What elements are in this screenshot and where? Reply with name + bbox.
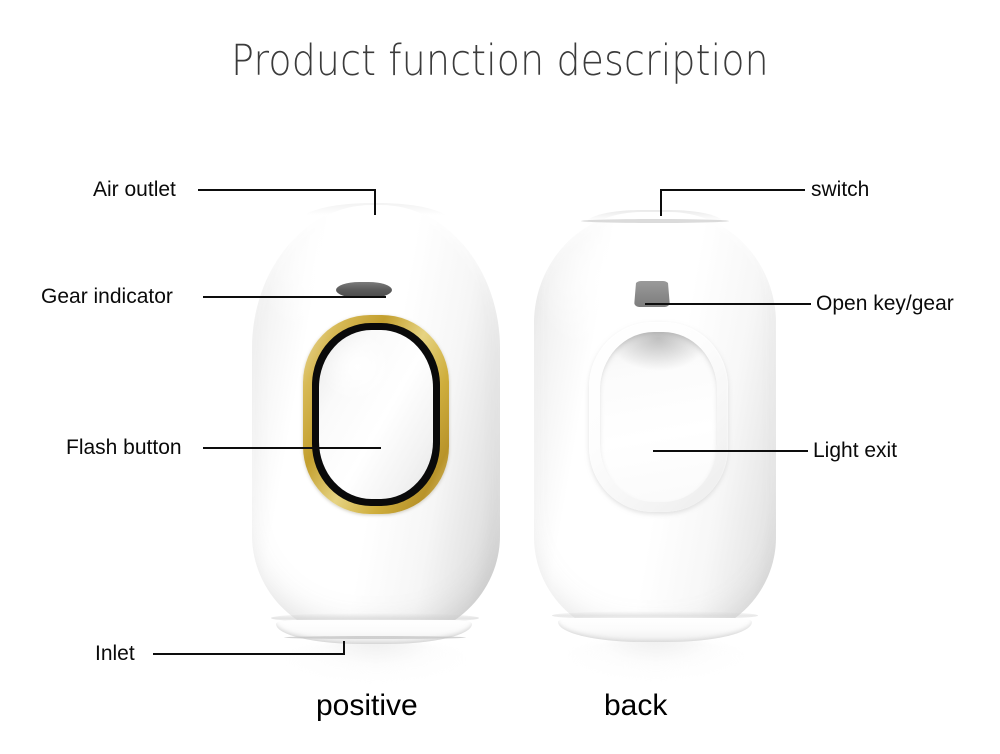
callout-label-light-exit: Light exit: [813, 440, 897, 461]
page-title: Product function description: [60, 36, 940, 86]
callout-label-open-key-gear: Open key/gear: [816, 293, 954, 314]
back-device-reflection: [566, 638, 746, 678]
leader-line-switch-vertical: [660, 189, 662, 216]
back-base: [558, 618, 752, 642]
callout-label-flash-button: Flash button: [66, 437, 182, 458]
flash-button-black-ring: [312, 323, 440, 506]
callout-label-inlet: Inlet: [95, 643, 135, 664]
callout-label-switch: switch: [811, 179, 869, 200]
leader-line-inlet-tick: [343, 641, 345, 654]
light-exit-window: [589, 322, 728, 512]
product-diagram-canvas: Product function description: [0, 0, 1000, 754]
leader-line-switch-horizontal: [660, 189, 805, 191]
caption-back-view: back: [604, 691, 667, 721]
flash-button[interactable]: [303, 315, 449, 514]
caption-front-view: positive: [316, 691, 418, 721]
callout-label-air-outlet: Air outlet: [93, 179, 176, 200]
front-device-reflection: [284, 640, 468, 680]
leader-line-flash-button: [203, 447, 381, 449]
back-top-edge-line: [581, 219, 729, 223]
callout-label-gear-indicator: Gear indicator: [41, 286, 173, 307]
leader-line-inlet-horizontal: [153, 653, 345, 655]
leader-line-light-exit: [653, 450, 808, 452]
front-base-edge-line: [284, 636, 466, 639]
front-base-inlet: [276, 620, 472, 644]
light-exit-lens: [600, 332, 717, 502]
leader-line-open-key-gear: [645, 303, 811, 305]
leader-line-gear-indicator: [203, 296, 386, 298]
leader-line-air-outlet-vertical: [374, 189, 376, 215]
flash-button-lens: [319, 330, 433, 499]
leader-line-air-outlet-horizontal: [198, 189, 376, 191]
